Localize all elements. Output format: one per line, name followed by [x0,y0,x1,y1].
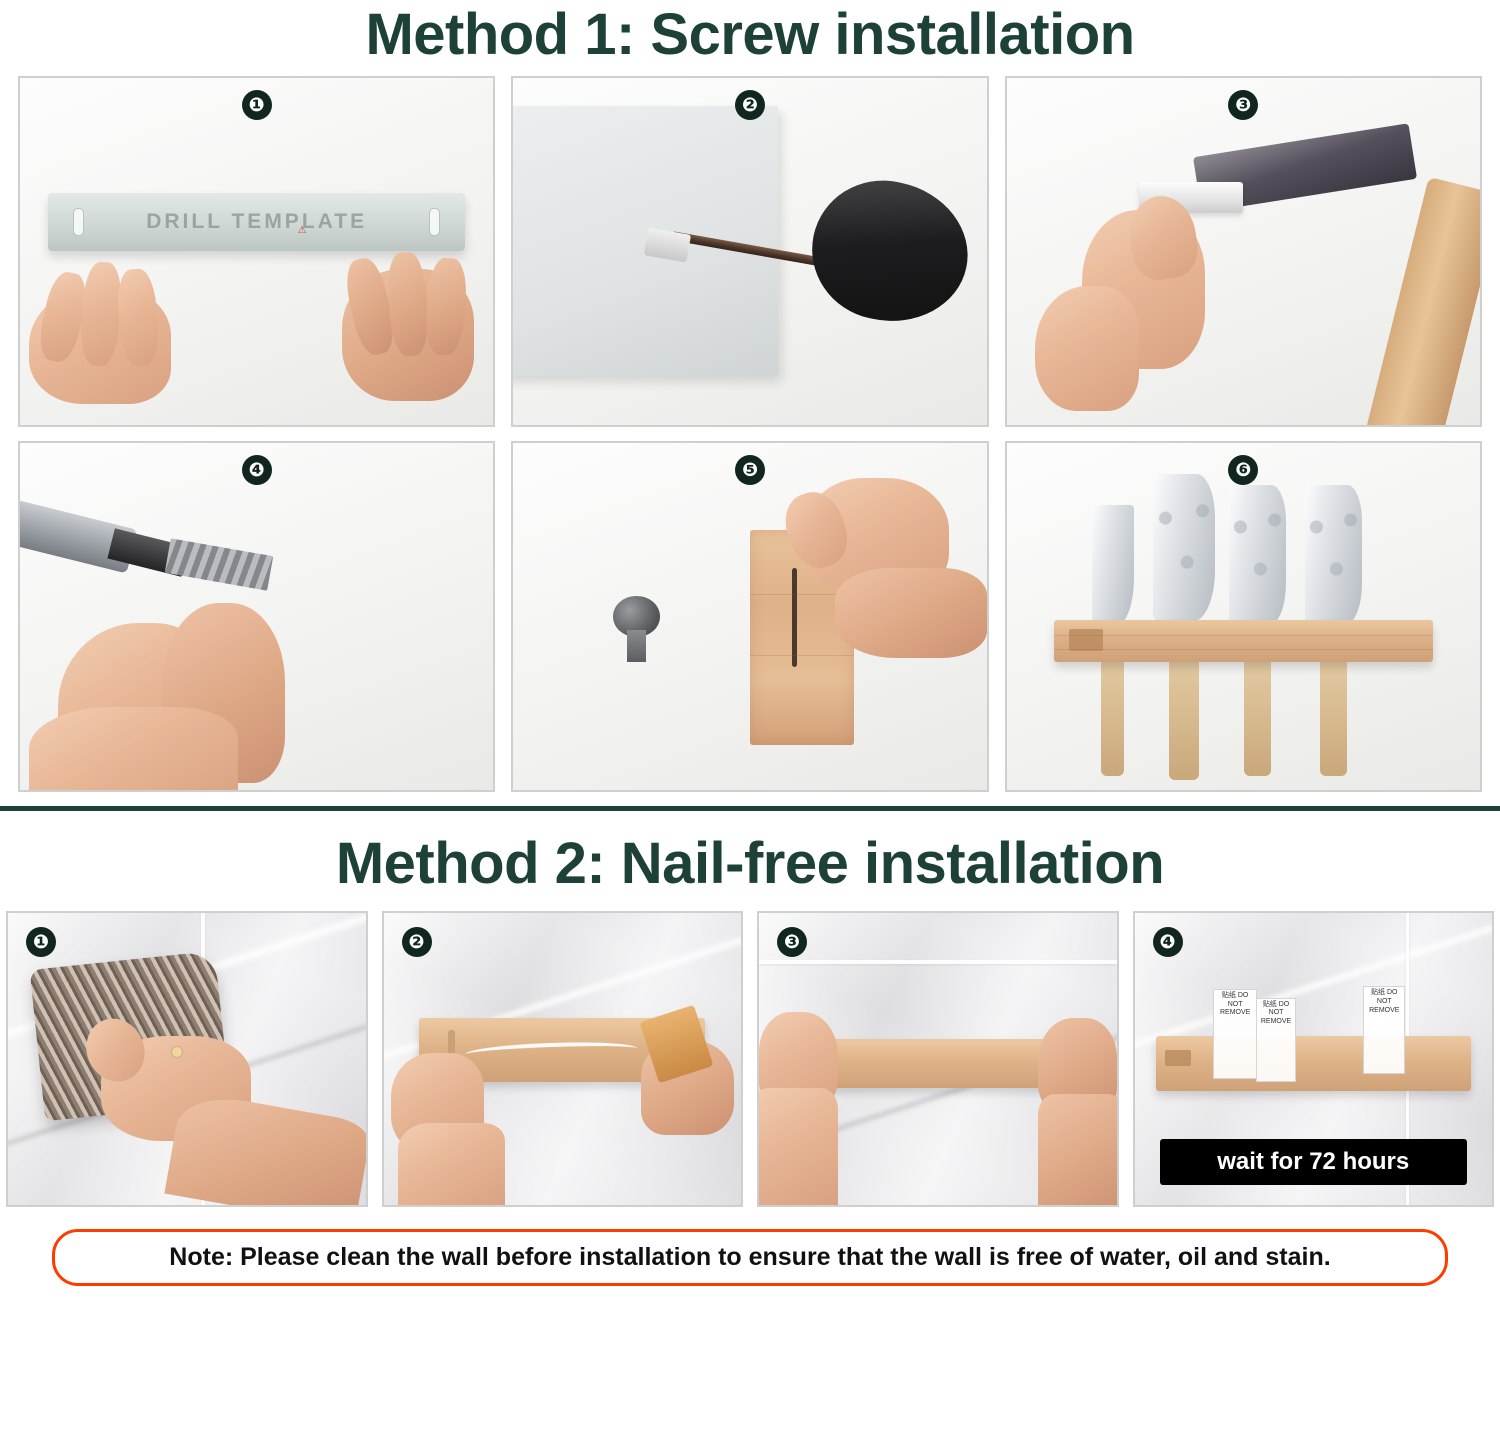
hand-base [1035,286,1139,411]
knife-blade [1305,485,1362,625]
drywall-board [511,106,778,377]
step-badge: ❷ [402,927,432,957]
method-1-steps-grid: DRILL TEMPLATE ⚠ ❶ ❷ ❸ [0,76,1500,792]
note-wrapper: Note: Please clean the wall before insta… [0,1207,1500,1296]
wood-strip [1156,1036,1471,1091]
wait-banner: wait for 72 hours [1160,1139,1467,1185]
forearm-left [757,1088,838,1205]
method-2-title: Method 2: Nail-free installation [0,811,1500,911]
adhesive-glue-bead [465,1040,637,1063]
step-image-drill-hole: ❷ [511,76,988,427]
step-image-position-drill-template: DRILL TEMPLATE ⚠ ❶ [18,76,495,427]
keyhole-slot [792,568,797,667]
wooden-magnetic-knife-rack [1054,620,1433,662]
step-badge: ❷ [735,90,765,120]
brand-logo [1165,1050,1191,1066]
step-image-apply-adhesive-glue: ❷ [382,911,744,1207]
forearm-left [398,1123,505,1207]
installation-note: Note: Please clean the wall before insta… [52,1229,1448,1286]
tape-label-1: 贴纸 DO NOT REMOVE [1213,989,1257,1079]
method-2-steps-grid: ❶ ❷ ❸ 贴纸 DO NOT REMOVE [0,911,1500,1207]
step-badge: ❹ [242,455,272,485]
wood-grain [750,655,854,656]
step-image-press-onto-wall: ❸ [757,911,1119,1207]
step-image-drive-screw: ❹ [18,441,495,792]
tape-label-2: 贴纸 DO NOT REMOVE [1256,998,1296,1082]
installed-screw-shaft [627,630,646,661]
step-badge: ❶ [26,927,56,957]
step-image-hang-knives: ❻ [1005,441,1482,792]
step-badge: ❸ [777,927,807,957]
hand-back [29,707,237,792]
step-image-clean-wall-with-cloth: ❶ [6,911,368,1207]
knife-blade [1229,485,1286,625]
step-image-tape-and-wait: 贴纸 DO NOT REMOVE 贴纸 DO NOT REMOVE 贴纸 DO … [1133,911,1495,1207]
knife-blade [1092,505,1135,624]
step-badge: ❻ [1228,455,1258,485]
step-badge: ❺ [735,455,765,485]
hand-lower [835,568,986,658]
drill-template-label: DRILL TEMPLATE [48,210,465,234]
knife-blade [1153,474,1215,621]
step-image-mount-wood-holder: ❺ [511,441,988,792]
step-badge: ❸ [1228,90,1258,120]
warning-icon: ⚠ [298,225,307,236]
forearm-right [1038,1094,1119,1207]
step-badge: ❶ [242,90,272,120]
drill-template: DRILL TEMPLATE ⚠ [48,193,465,252]
method-1-title: Method 1: Screw installation [0,0,1500,76]
tile-seam [759,960,1117,964]
wood-grain [1054,635,1433,636]
wood-grain [1054,649,1433,650]
step-badge: ❹ [1153,927,1183,957]
brand-logo [1069,629,1103,651]
step-image-hammer-wall-anchor: ❸ [1005,76,1482,427]
tape-label-3: 贴纸 DO NOT REMOVE [1363,986,1405,1074]
